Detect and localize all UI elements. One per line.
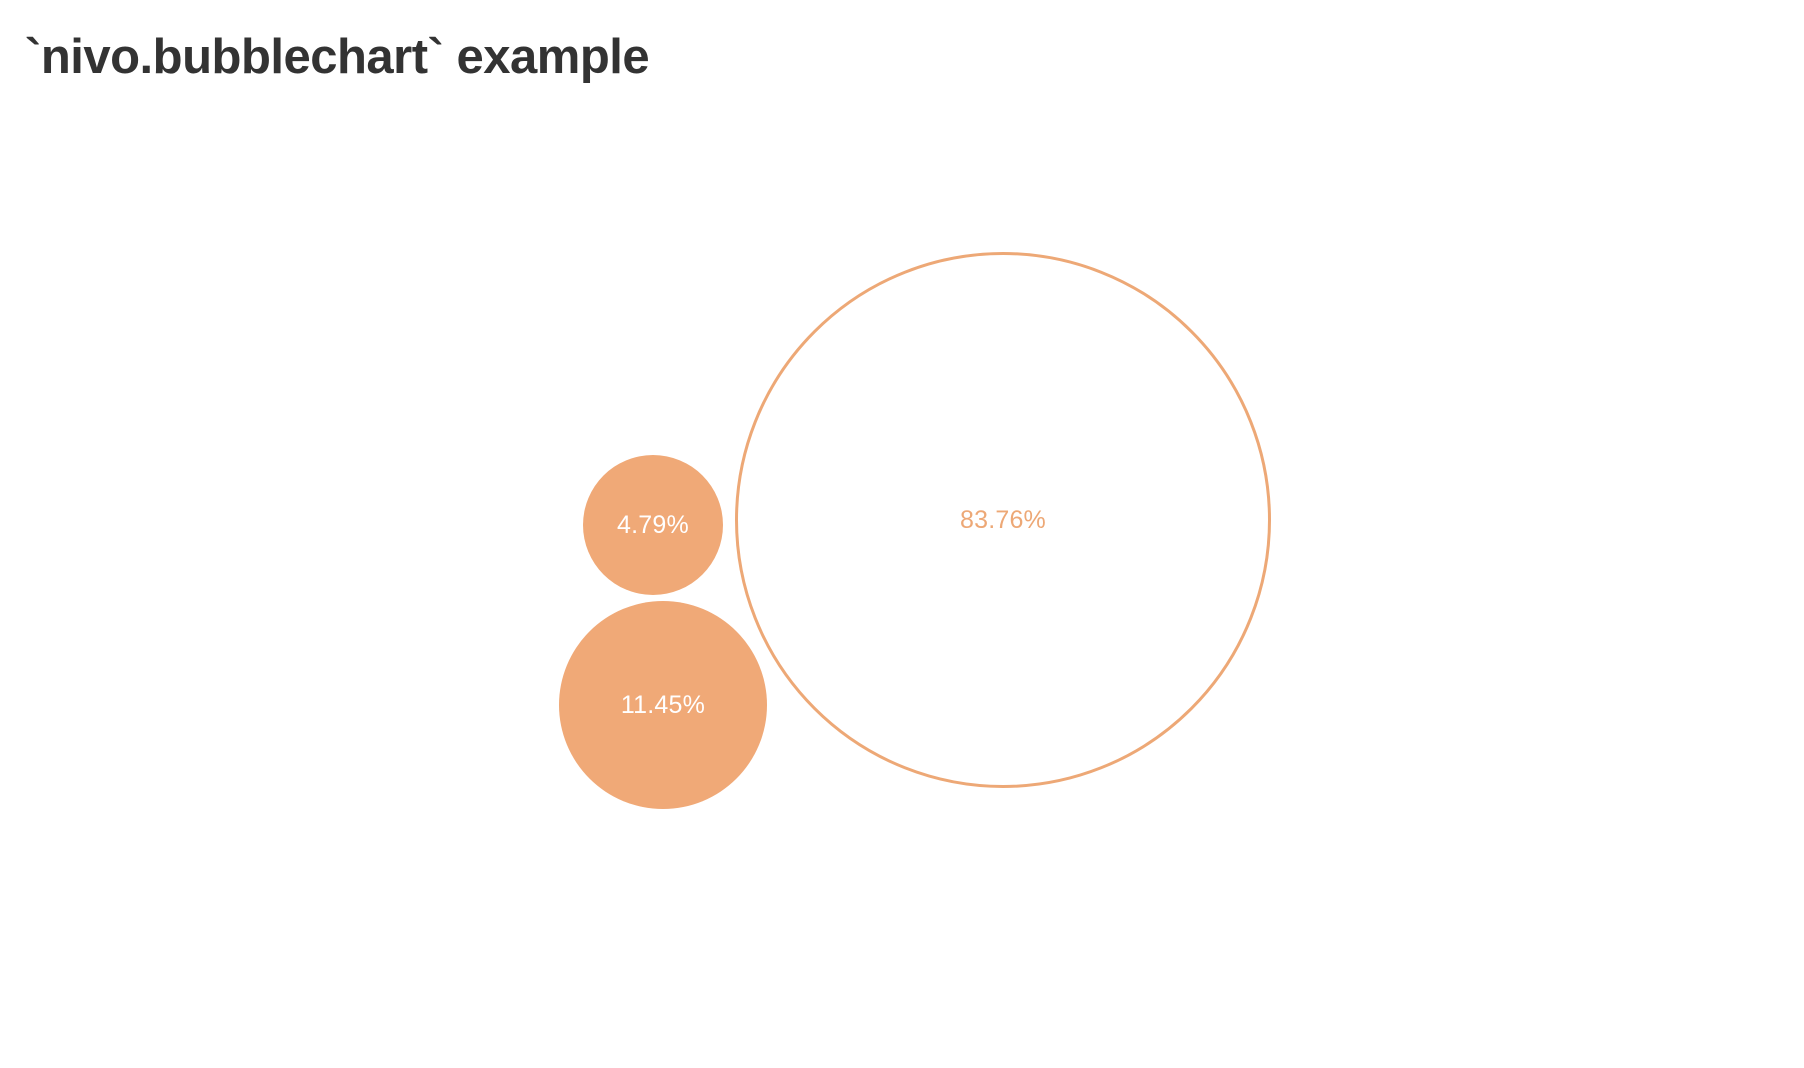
bubble-label: 83.76% bbox=[960, 506, 1046, 535]
bubblechart-page: `nivo.bubblechart` example 83.76%4.79%11… bbox=[0, 0, 1804, 1068]
bubble-node[interactable]: 11.45% bbox=[559, 601, 767, 809]
bubble-label: 4.79% bbox=[617, 511, 689, 540]
bubble-node[interactable]: 4.79% bbox=[583, 455, 723, 595]
bubble-node[interactable]: 83.76% bbox=[735, 252, 1271, 788]
bubble-chart: 83.76%4.79%11.45% bbox=[0, 0, 1804, 1068]
bubble-label: 11.45% bbox=[621, 691, 705, 720]
